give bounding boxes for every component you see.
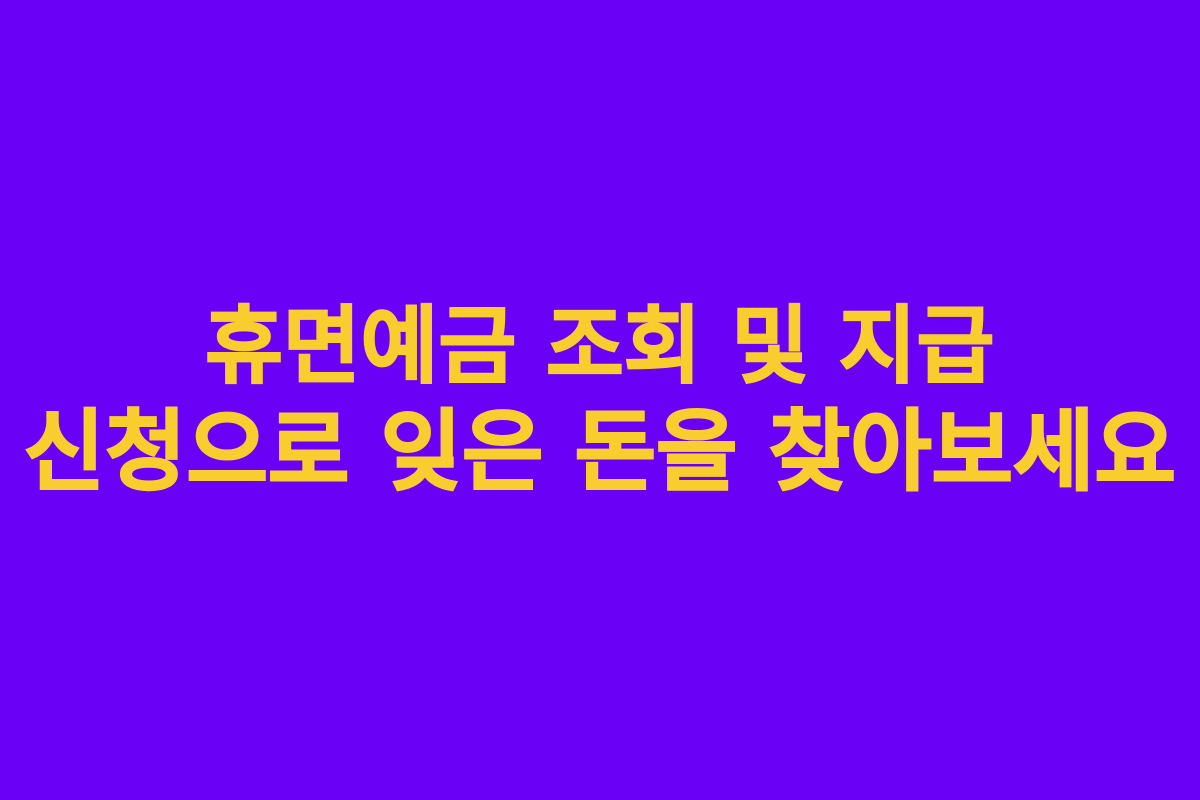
headline-line-2: 신청으로 잊은 돈을 찾아보세요 — [0, 399, 1200, 504]
promo-banner: 휴면예금 조회 및 지급 신청으로 잊은 돈을 찾아보세요 — [0, 0, 1200, 800]
headline: 휴면예금 조회 및 지급 신청으로 잊은 돈을 찾아보세요 — [0, 294, 1200, 504]
headline-line-1: 휴면예금 조회 및 지급 — [0, 294, 1200, 399]
